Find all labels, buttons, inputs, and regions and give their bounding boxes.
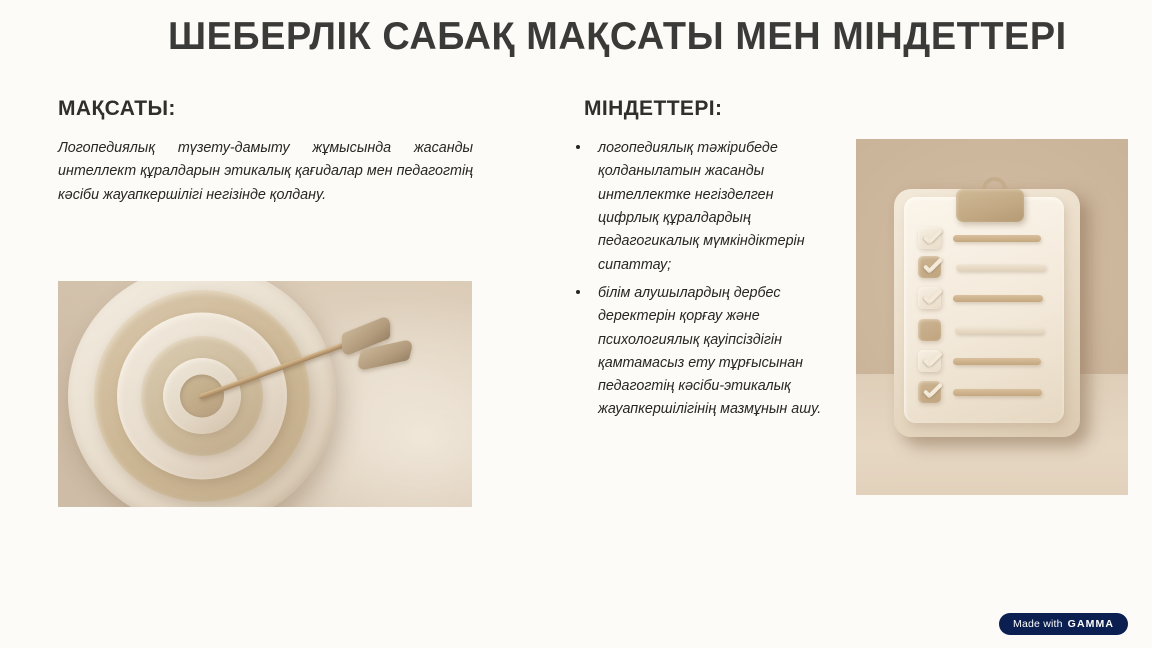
goal-column: МАҚСАТЫ: Логопедиялық түзету-дамыту жұмы…: [58, 96, 473, 207]
checklist-line: [956, 264, 1046, 271]
clipboard-checklist-image: [856, 139, 1128, 495]
checkbox-icon: [918, 319, 941, 341]
list-item-label: логопедиялық тәжірибеде қолданылатын жас…: [598, 140, 805, 272]
tasks-heading: МІНДЕТТЕРІ:: [584, 96, 837, 121]
badge-brand-label: GAMMA: [1068, 618, 1114, 630]
made-with-gamma-badge[interactable]: Made with GAMMA: [999, 613, 1128, 635]
checkbox-icon: [918, 350, 941, 372]
archery-target-image: [58, 281, 472, 507]
check-mark-icon: [922, 258, 944, 276]
page-title: ШЕБЕРЛІК САБАҚ МАҚСАТЫ МЕН МІНДЕТТЕРІ: [168, 13, 1152, 62]
goal-paragraph: Логопедиялық түзету-дамыту жұмысында жас…: [58, 137, 473, 206]
bullet-dot-icon: [576, 145, 580, 149]
checklist-line: [953, 358, 1041, 365]
check-mark-icon: [922, 352, 944, 370]
check-mark-icon: [922, 229, 944, 247]
checklist-line: [955, 327, 1044, 334]
list-item-label: білім алушылардың дербес деректерін қорғ…: [598, 285, 821, 417]
checklist-line: [953, 295, 1043, 302]
tasks-column: МІНДЕТТЕРІ: логопедиялық тәжірибеде қолд…: [575, 96, 837, 427]
goal-heading: МАҚСАТЫ:: [58, 96, 473, 121]
list-item: логопедиялық тәжірибеде қолданылатын жас…: [575, 137, 837, 277]
checklist-line: [953, 235, 1041, 242]
check-mark-icon: [922, 289, 944, 307]
slide-canvas: ШЕБЕРЛІК САБАҚ МАҚСАТЫ МЕН МІНДЕТТЕРІ МА…: [0, 0, 1152, 648]
checkbox-icon: [918, 227, 941, 249]
checklist-line: [953, 389, 1042, 396]
tasks-bullet-list: логопедиялық тәжірибеде қолданылатын жас…: [575, 137, 837, 422]
badge-prefix-label: Made with: [1013, 618, 1063, 630]
checkbox-icon: [918, 287, 941, 309]
clipboard-clip-icon: [956, 189, 1024, 222]
bullet-dot-icon: [576, 290, 580, 294]
check-mark-icon: [922, 383, 944, 401]
checkbox-icon: [918, 381, 941, 403]
checkbox-icon: [918, 256, 941, 278]
list-item: білім алушылардың дербес деректерін қорғ…: [575, 282, 837, 422]
